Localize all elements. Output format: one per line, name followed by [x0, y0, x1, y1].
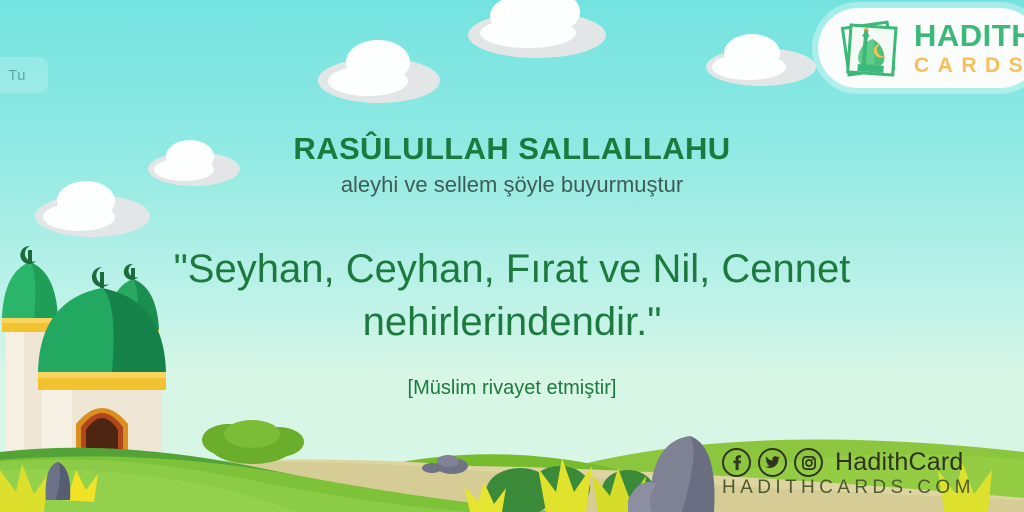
brand-subname: CARDS: [914, 55, 1024, 76]
social-links: HadithCard: [722, 448, 963, 477]
brand-logo-text: HADITH CARDS: [914, 20, 1024, 76]
brand-name: HADITH: [914, 20, 1024, 51]
language-tab[interactable]: Tu: [0, 57, 48, 93]
hadith-source: [Müslim rivayet etmiştir]: [0, 377, 1024, 400]
twitter-icon[interactable]: [758, 448, 787, 477]
bush-group-left: [202, 420, 304, 464]
website-url: HADITHCARDS.COM: [722, 477, 975, 499]
language-tab-label: Tu: [8, 67, 26, 84]
page-subtitle: aleyhi ve sellem şöyle buyurmuştur: [0, 172, 1024, 198]
hadith-quote: "Seyhan, Ceyhan, Fırat ve Nil, Cennet ne…: [112, 243, 912, 349]
social-handle: HadithCard: [835, 448, 963, 477]
brand-logo[interactable]: HADITH CARDS: [818, 8, 1024, 88]
instagram-icon[interactable]: [794, 448, 823, 477]
mosque-cards-logo-icon: [834, 15, 910, 81]
page-title: RASÛLULLAH SALLALLAHU: [0, 131, 1024, 167]
facebook-icon[interactable]: [722, 448, 751, 477]
hadith-card: Tu: [0, 0, 1024, 512]
